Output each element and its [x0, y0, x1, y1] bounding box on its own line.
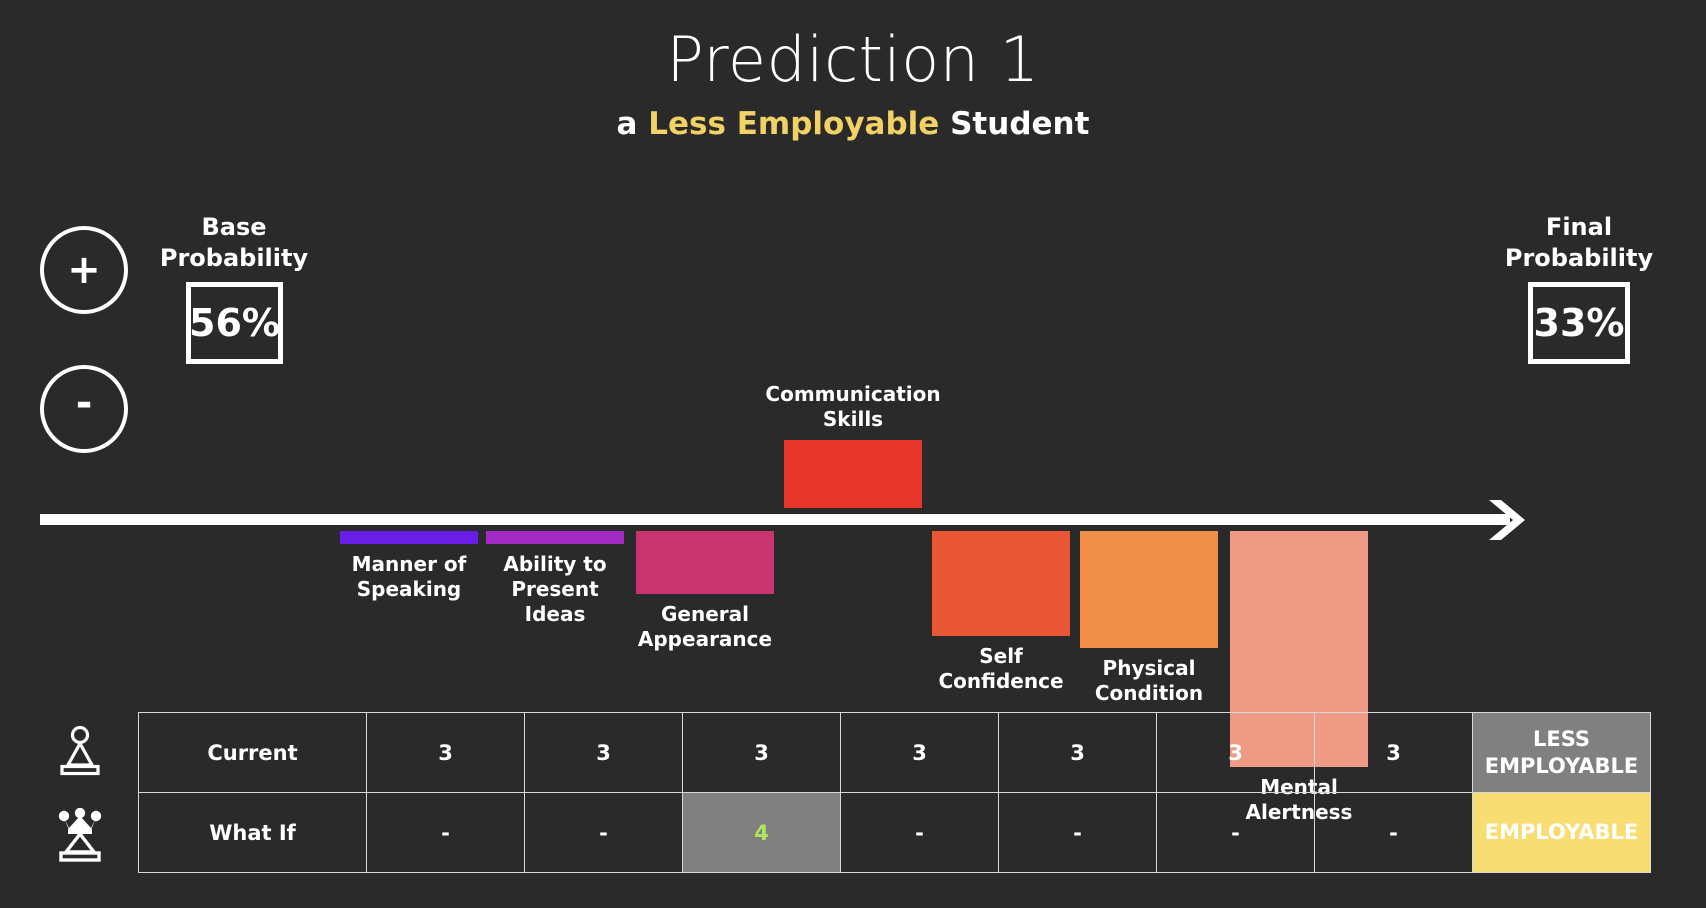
bar-label-4: CommunicationSkills — [748, 382, 958, 432]
bar-label-line: Communication — [748, 382, 958, 407]
bar-label-line: Present — [450, 577, 660, 602]
bar-label-6: PhysicalCondition — [1044, 656, 1254, 706]
bar-label-line: Skills — [748, 407, 958, 432]
bar-general-appearance[interactable] — [636, 531, 774, 594]
outcome-line: LESS — [1473, 726, 1650, 752]
base-probability-label: Base Probability — [152, 212, 316, 273]
value-cell[interactable]: - — [1157, 793, 1315, 873]
outcome-cell: LESSEMPLOYABLE — [1473, 713, 1651, 793]
outcome-line: EMPLOYABLE — [1473, 753, 1650, 779]
value-cell[interactable]: - — [367, 793, 525, 873]
bar-label-line: General — [600, 602, 810, 627]
value-cell[interactable]: 3 — [1157, 713, 1315, 793]
bar-label-line: Appearance — [600, 627, 810, 652]
bar-physical-condition[interactable] — [1080, 531, 1218, 648]
final-probability-label: Final Probability — [1494, 212, 1664, 273]
value-cell[interactable]: 4 — [683, 793, 841, 873]
table-row: Current3333333LESSEMPLOYABLE — [139, 713, 1651, 793]
queen-icon — [56, 808, 104, 864]
value-cell[interactable]: 3 — [999, 713, 1157, 793]
outcome-cell: EMPLOYABLE — [1473, 793, 1651, 873]
subtitle-highlight: Less Employable — [648, 106, 939, 142]
bar-communication-skills[interactable] — [784, 440, 922, 508]
final-probability-value: 33% — [1528, 282, 1630, 364]
value-cell[interactable]: 3 — [367, 713, 525, 793]
bar-self-confidence[interactable] — [932, 531, 1070, 636]
row-name-cell: Current — [139, 713, 367, 793]
final-probability-label-line1: Final — [1494, 212, 1664, 243]
base-probability-label-line1: Base — [152, 212, 316, 243]
base-probability-value: 56% — [186, 282, 283, 364]
row-name-cell: What If — [139, 793, 367, 873]
value-cell[interactable]: - — [525, 793, 683, 873]
comparison-table: Current3333333LESSEMPLOYABLEWhat If--4--… — [138, 712, 1651, 873]
value-cell[interactable]: - — [1315, 793, 1473, 873]
value-cell[interactable]: - — [999, 793, 1157, 873]
waterfall-chart: + - Base Probability Final Probability 5… — [0, 160, 1706, 650]
increase-button[interactable]: + — [40, 226, 128, 314]
bar-label-line: Ability to — [450, 552, 660, 577]
value-cell[interactable]: 3 — [1315, 713, 1473, 793]
base-probability-label-line2: Probability — [152, 243, 316, 274]
outcome-line: EMPLOYABLE — [1473, 819, 1650, 845]
decrease-button[interactable]: - — [40, 365, 128, 453]
bar-manner-of-speaking[interactable] — [340, 531, 478, 544]
baseline-axis — [40, 514, 1510, 525]
final-probability-label-line2: Probability — [1494, 243, 1664, 274]
pawn-icon — [58, 726, 102, 778]
prediction-waterfall-page: Prediction 1 a Less Employable Student +… — [0, 0, 1706, 908]
plus-icon: + — [67, 250, 101, 290]
value-cell[interactable]: 3 — [525, 713, 683, 793]
bar-ability-to-present[interactable] — [486, 531, 624, 544]
value-cell[interactable]: 3 — [841, 713, 999, 793]
table-row: What If--4----EMPLOYABLE — [139, 793, 1651, 873]
page-title: Prediction 1 — [0, 26, 1706, 94]
bar-label-line: Condition — [1044, 681, 1254, 706]
subtitle-prefix: a — [617, 106, 649, 142]
bar-label-line: Physical — [1044, 656, 1254, 681]
minus-icon: - — [76, 383, 93, 423]
page-subtitle: a Less Employable Student — [0, 106, 1706, 143]
subtitle-suffix: Student — [939, 106, 1089, 142]
value-cell[interactable]: 3 — [683, 713, 841, 793]
bar-label-3: GeneralAppearance — [600, 602, 810, 652]
value-cell[interactable]: - — [841, 793, 999, 873]
